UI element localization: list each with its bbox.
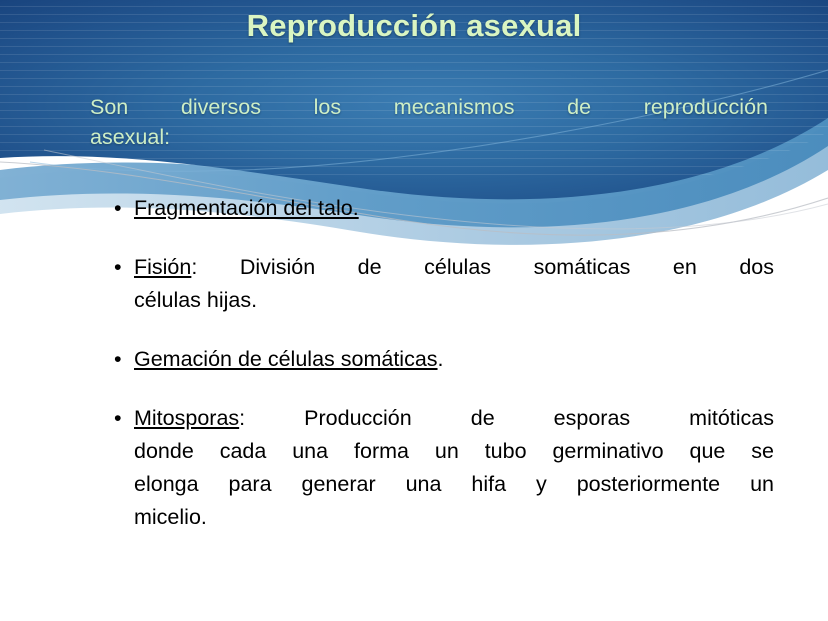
intro-line-2: asexual:	[90, 122, 768, 152]
list-item-text: División de células somáticas en dos	[197, 255, 774, 279]
list-item-fision: • Fisión: División de células somáticas …	[112, 251, 774, 317]
bullet-marker: •	[114, 343, 122, 376]
list-item-text: Producción de esporas mitóticas	[245, 406, 774, 430]
underlined-term: Fragmentación del talo.	[134, 196, 359, 220]
bullet-marker: •	[114, 192, 122, 225]
list-item-gemacion-de-celulas-somaticas: • Gemación de células somáticas.	[112, 343, 774, 376]
underlined-term: Mitosporas	[134, 406, 239, 430]
intro-line-1: Son diversos los mecanismos de reproducc…	[90, 92, 768, 122]
bullet-marker: •	[114, 402, 122, 435]
list-item-line-2: células hijas.	[134, 284, 774, 317]
list-item-line-4: micelio.	[134, 501, 774, 534]
list-item-text: Gemación de células somáticas.	[134, 343, 774, 376]
list-item-line-1: Fisión: División de células somáticas en…	[134, 251, 774, 284]
bullet-list: • Fragmentación del talo. • Fisión: Divi…	[112, 192, 774, 534]
bullet-marker: •	[114, 251, 122, 284]
list-item-line-1: Mitosporas: Producción de esporas mitóti…	[134, 402, 774, 435]
list-item-line-3: elonga para generar una hifa y posterior…	[134, 468, 774, 501]
intro-paragraph: Son diversos los mecanismos de reproducc…	[90, 92, 768, 152]
list-item-line-2: donde cada una forma un tubo germinativo…	[134, 435, 774, 468]
term-period: .	[438, 347, 444, 371]
underlined-term: Gemación de células somáticas	[134, 347, 438, 371]
underlined-term: Fisión	[134, 255, 191, 279]
list-item-text: Fragmentación del talo.	[134, 192, 774, 225]
page-title: Reproducción asexual	[0, 8, 828, 44]
list-item-fragmentacion-del-talo: • Fragmentación del talo.	[112, 192, 774, 225]
list-item-mitosporas: • Mitosporas: Producción de esporas mitó…	[112, 402, 774, 534]
slide-canvas: Reproducción asexual Son diversos los me…	[0, 0, 828, 621]
